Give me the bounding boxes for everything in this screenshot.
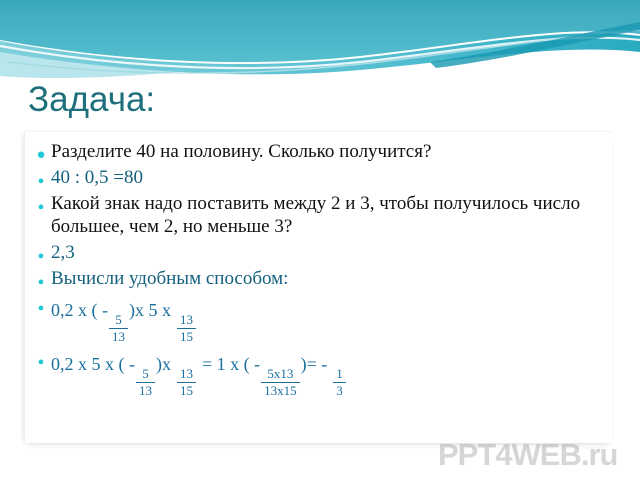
- math-part: )х: [156, 354, 171, 374]
- bullet-dot-icon: ●: [31, 140, 51, 163]
- list-item: ● Разделите 40 на половину. Сколько полу…: [31, 140, 602, 163]
- fraction: 5х1313х15: [261, 367, 300, 398]
- fraction-numerator: 13: [177, 313, 196, 327]
- math-expression: 0,2 х ( -513)х 5 х1315: [51, 293, 602, 344]
- fraction-numerator: 13: [177, 367, 196, 381]
- fraction-denominator: 13: [136, 384, 155, 398]
- math-part: )х 5 х: [129, 300, 171, 320]
- list-item-label: Какой знак надо поставить между 2 и 3, ч…: [51, 192, 602, 238]
- list-item-label: Разделите 40 на половину. Сколько получи…: [51, 140, 602, 163]
- fraction-numerator: 5х13: [264, 367, 296, 381]
- fraction-denominator: 3: [333, 384, 346, 398]
- bullet-dot-icon: ●: [31, 166, 51, 187]
- content-placeholder: ● Разделите 40 на половину. Сколько полу…: [24, 131, 612, 443]
- fraction-numerator: 5: [139, 367, 152, 381]
- fraction: 1315: [177, 313, 196, 344]
- math-expression-row: ● 0,2 х ( -513)х 5 х1315: [31, 293, 602, 344]
- math-part: 0,2 х 5 х ( -: [51, 354, 135, 374]
- math-expression-row: ● 0,2 х 5 х ( -513)х1315= 1 х ( -5х1313х…: [31, 347, 602, 398]
- bullet-dot-icon: ●: [31, 192, 51, 213]
- fraction: 513: [109, 313, 128, 344]
- fraction-denominator: 15: [177, 384, 196, 398]
- list-item-label: 2,3: [51, 241, 602, 264]
- fraction: 513: [136, 367, 155, 398]
- fraction-numerator: 5: [112, 313, 125, 327]
- list-item-label: 40 : 0,5 =80: [51, 166, 602, 189]
- bullet-dot-icon: ●: [31, 293, 51, 314]
- math-part: = 1 х ( -: [202, 354, 260, 374]
- page-title: Задача:: [28, 79, 155, 121]
- list-item: ● Какой знак надо поставить между 2 и 3,…: [31, 192, 602, 238]
- math-part: )= -: [301, 354, 328, 374]
- bullet-dot-icon: ●: [31, 241, 51, 262]
- list-item-label: Вычисли удобным способом:: [51, 267, 602, 290]
- fraction-denominator: 15: [177, 330, 196, 344]
- fraction-denominator: 13: [109, 330, 128, 344]
- bullet-list: ● Разделите 40 на половину. Сколько полу…: [25, 132, 612, 398]
- presentation-slide: Задача: ● Разделите 40 на половину. Скол…: [0, 0, 640, 480]
- math-part: 0,2 х ( -: [51, 300, 108, 320]
- math-expression: 0,2 х 5 х ( -513)х1315= 1 х ( -5х1313х15…: [51, 347, 602, 398]
- bullet-dot-icon: ●: [31, 267, 51, 288]
- list-item: ● 40 : 0,5 =80: [31, 166, 602, 189]
- fraction-numerator: 1: [333, 367, 346, 381]
- watermark: PPT4WEB.ru: [438, 437, 617, 473]
- list-item: ● Вычисли удобным способом:: [31, 267, 602, 290]
- fraction-denominator: 13х15: [261, 384, 300, 398]
- list-item: ● 2,3: [31, 241, 602, 264]
- fraction: 13: [333, 367, 346, 398]
- header-wave-decoration: [0, 0, 640, 82]
- fraction: 1315: [177, 367, 196, 398]
- bullet-dot-icon: ●: [31, 347, 51, 368]
